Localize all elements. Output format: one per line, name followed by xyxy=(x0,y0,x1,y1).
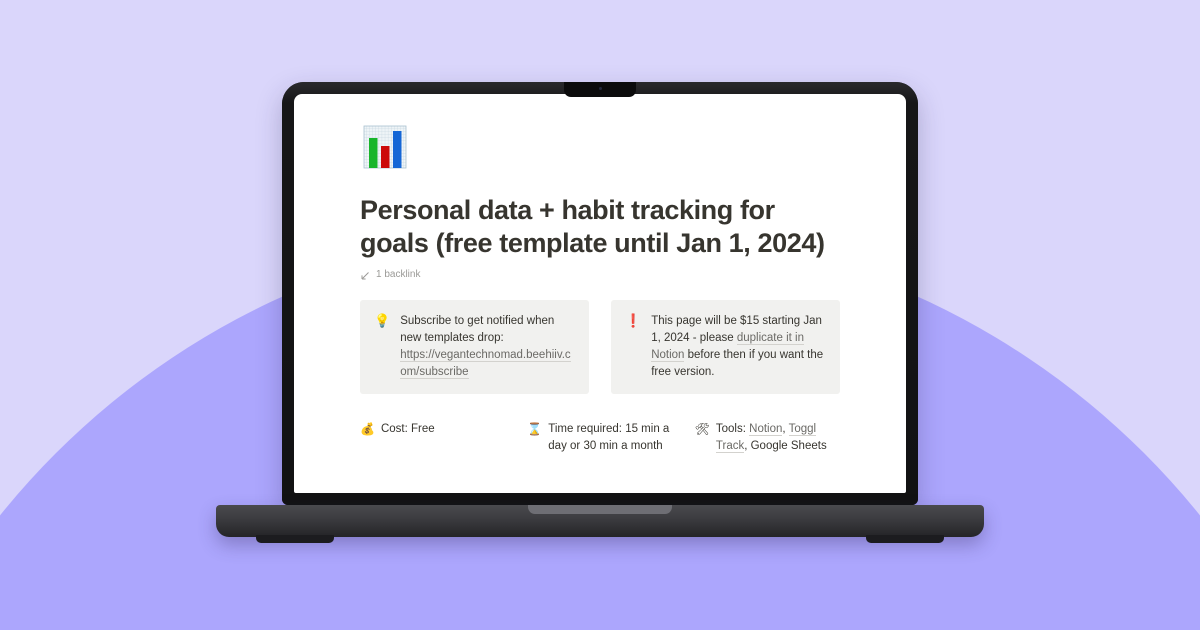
webcam-notch xyxy=(564,82,636,97)
column-tools-text: Tools: Notion, Toggl Track, Google Sheet… xyxy=(716,421,840,455)
laptop-screen: Personal data + habit tracking for goals… xyxy=(294,94,906,493)
backlink-label: 1 backlink xyxy=(376,269,420,280)
callout-subscribe-text: Subscribe to get notified when new templ… xyxy=(400,313,575,381)
laptop-foot-right xyxy=(866,535,944,543)
callout-subscribe-lead: Subscribe to get notified when new templ… xyxy=(400,315,554,344)
column-cost-label: Cost: xyxy=(381,423,408,435)
backlink[interactable]: 1 backlink xyxy=(360,269,840,280)
laptop-foot-left xyxy=(256,535,334,543)
money-bag-emoji: 💰 xyxy=(360,421,375,455)
column-tools: 🛠 Tools: Notion, Toggl Track, Google She… xyxy=(695,421,840,455)
webcam-icon xyxy=(599,87,602,90)
hammer-and-wrench-emoji: 🛠 xyxy=(695,421,710,455)
column-time-text: Time required: 15 min a day or 30 min a … xyxy=(548,421,672,455)
hourglass-emoji: ⌛ xyxy=(527,421,542,455)
notion-page: Personal data + habit tracking for goals… xyxy=(294,94,906,455)
laptop-base-notch xyxy=(528,505,672,514)
laptop-device: Personal data + habit tracking for goals… xyxy=(0,0,1200,630)
column-time: ⌛ Time required: 15 min a day or 30 min … xyxy=(527,421,672,455)
newsletter-link[interactable]: https://vegantechnomad.beehiiv.com/subsc… xyxy=(400,349,570,379)
backlink-arrow-icon xyxy=(360,271,370,281)
column-cost-text: Cost: Free xyxy=(381,421,435,455)
column-cost: 💰 Cost: Free xyxy=(360,421,505,455)
laptop-base xyxy=(216,505,984,537)
notion-link[interactable]: Notion xyxy=(749,423,782,436)
column-time-label: Time required: xyxy=(548,423,622,435)
callout-row: 💡 Subscribe to get notified when new tem… xyxy=(360,300,840,394)
callout-price-notice: ❗ This page will be $15 starting Jan 1, … xyxy=(611,300,840,394)
page-title: Personal data + habit tracking for goals… xyxy=(360,194,840,260)
tools-separator: , xyxy=(782,423,788,435)
columns-row: 💰 Cost: Free ⌛ Time required: 15 min a d… xyxy=(360,421,840,455)
bar-chart-emoji[interactable] xyxy=(360,122,410,172)
column-tools-tail: , Google Sheets xyxy=(744,440,826,452)
bar-chart-icon xyxy=(360,122,410,172)
callout-subscribe: 💡 Subscribe to get notified when new tem… xyxy=(360,300,589,394)
exclamation-emoji: ❗ xyxy=(625,313,641,381)
lightbulb-emoji: 💡 xyxy=(374,313,390,381)
column-cost-value: Free xyxy=(408,423,435,435)
callout-price-text: This page will be $15 starting Jan 1, 20… xyxy=(651,313,826,381)
column-tools-label: Tools: xyxy=(716,423,746,435)
